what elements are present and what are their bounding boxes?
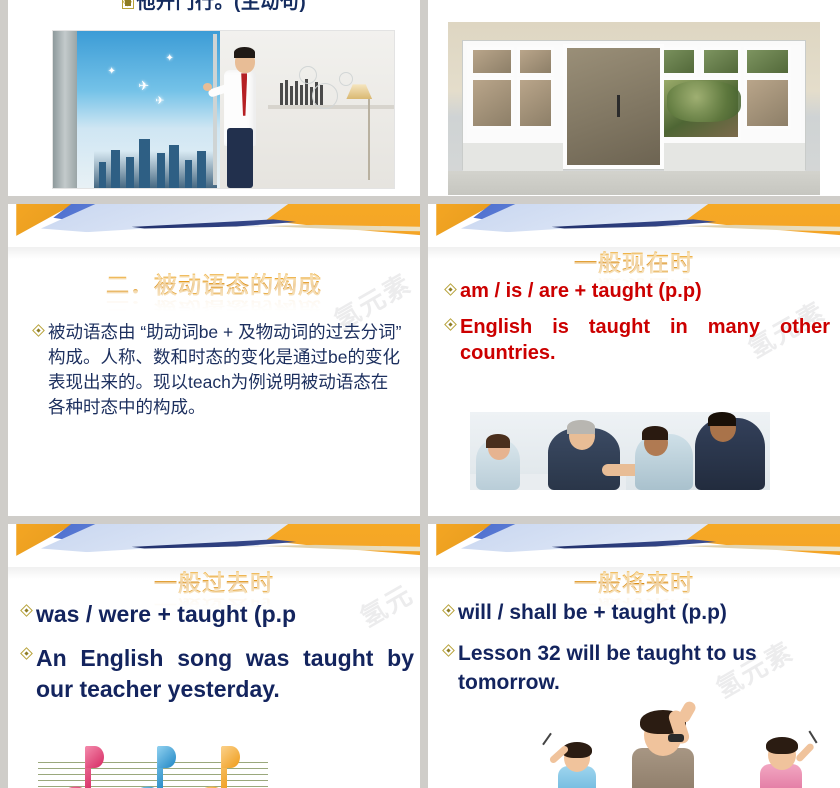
title-reflection: 二．被动语态的构成 bbox=[8, 298, 420, 317]
bullet-item: was / were + taught (p.p bbox=[22, 600, 414, 629]
diamond-bullet-icon bbox=[20, 647, 33, 660]
student-right bbox=[742, 742, 824, 788]
slide-simple-future[interactable]: 一般将来时 一般将来时 氢元素 will / shall be + taught… bbox=[428, 524, 840, 788]
bullet-text: am / is / are + taught (p.p) bbox=[460, 279, 830, 304]
bullet-item: will / shall be + taught (p.p) bbox=[444, 600, 832, 626]
bullet-text: An English song was taught by our teache… bbox=[36, 643, 414, 705]
bullet-text: will / shall be + taught (p.p) bbox=[458, 600, 832, 626]
music-notes-graphic bbox=[38, 726, 268, 788]
slide-formation[interactable]: 二．被动语态的构成 二．被动语态的构成 氢元素 被动语态由 “助动词be + 及… bbox=[8, 204, 420, 516]
decorative-banner bbox=[8, 204, 420, 259]
diamond-bullet-icon bbox=[444, 318, 457, 331]
bullet-item: Lesson 32 will be taught to us tomorrow. bbox=[444, 640, 832, 697]
slide-active-voice[interactable]: ◈他开门行。(主动句) ✦ ✈ ✦ ✈ bbox=[8, 0, 420, 196]
slide-active-voice-title: ◈他开门行。(主动句) bbox=[8, 0, 420, 14]
diamond-bullet-icon bbox=[442, 644, 455, 657]
business-handshake-photo bbox=[470, 412, 770, 490]
diamond-bullet-icon bbox=[442, 604, 455, 617]
slide-thumbnail-grid: ◈他开门行。(主动句) ✦ ✈ ✦ ✈ bbox=[0, 0, 840, 788]
bullet-item: English is taught in many other countrie… bbox=[446, 314, 830, 366]
slide-simple-past-title: 一般过去时 bbox=[8, 564, 420, 598]
bullet-text: was / were + taught (p.p bbox=[36, 600, 414, 629]
slide-formation-title: 二．被动语态的构成 bbox=[8, 266, 420, 300]
bullet-text: English is taught in many other countrie… bbox=[460, 314, 830, 366]
students-raising-hands-photo bbox=[546, 716, 834, 788]
diamond-bullet-icon: ◈ bbox=[122, 0, 134, 9]
slide-simple-present-title: 一般现在时 bbox=[428, 244, 840, 278]
slide-simple-future-title: 一般将来时 bbox=[428, 564, 840, 598]
bullet-item: An English song was taught by our teache… bbox=[22, 643, 414, 705]
slide-simple-past[interactable]: 一般过去时 一般过去时 氢元 was / were + taught (p.p … bbox=[8, 524, 420, 788]
slide-window-photo[interactable] bbox=[428, 0, 840, 196]
bullet-item: 被动语态由 “助动词be + 及物动词的过去分词” 构成。人称、数和时态的变化是… bbox=[34, 320, 404, 419]
diamond-bullet-icon bbox=[32, 324, 45, 337]
diamond-bullet-icon bbox=[444, 283, 457, 296]
student-center bbox=[606, 718, 736, 788]
bullet-item: am / is / are + taught (p.p) bbox=[446, 279, 830, 304]
slide-simple-present[interactable]: 一般现在时 一般现在时 氢元素 am / is / are + taught (… bbox=[428, 204, 840, 516]
bullet-text: 被动语态由 “助动词be + 及物动词的过去分词” 构成。人称、数和时态的变化是… bbox=[48, 320, 404, 419]
man-presenting-photo: ✦ ✈ ✦ ✈ bbox=[52, 30, 395, 189]
open-windows-photo bbox=[448, 22, 820, 195]
diamond-bullet-icon bbox=[20, 604, 33, 617]
bullet-text: Lesson 32 will be taught to us tomorrow. bbox=[458, 640, 832, 697]
